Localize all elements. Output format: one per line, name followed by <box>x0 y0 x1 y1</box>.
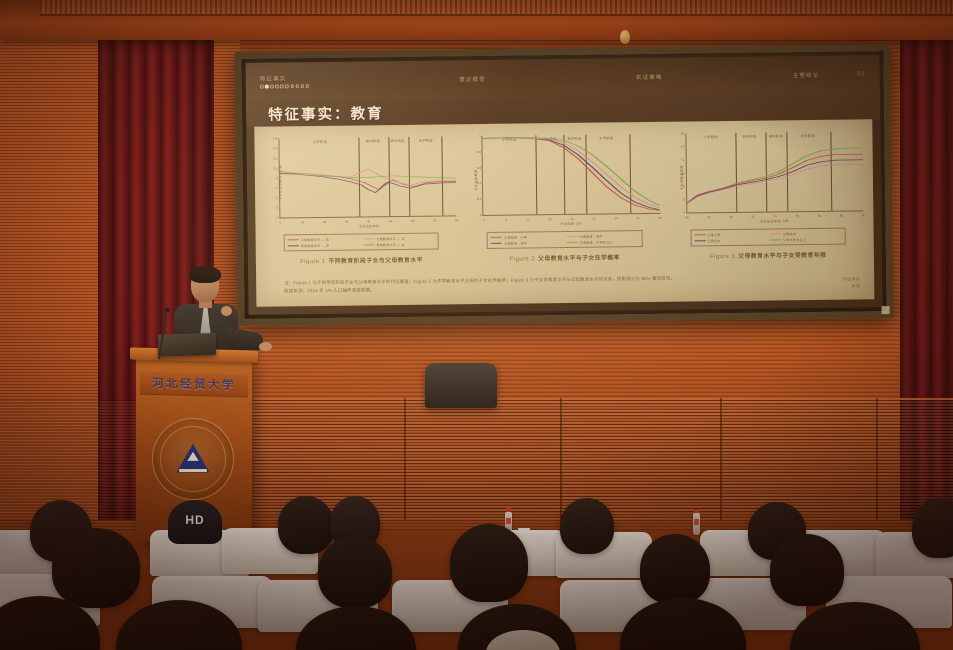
legend-label: 父母教育：大学及以上 <box>580 239 613 244</box>
audience-seating: HD <box>0 488 953 650</box>
y-tick: 6 <box>672 197 685 201</box>
legend-swatch <box>288 245 299 247</box>
audience-cap: HD <box>168 500 222 544</box>
lectern-nameplate: 河北经贸大学 <box>140 371 248 398</box>
y-tick: 0.2 <box>265 156 278 160</box>
lecture-hall-photo: 特征事实 理论模型 <box>0 0 953 650</box>
legend-label: 父母小学 <box>707 232 720 237</box>
progress-dot <box>301 84 305 88</box>
figure-3-plot: 子女受教育年限 16 14 12 10 8 6 4 <box>667 125 868 227</box>
audience-head <box>560 498 614 554</box>
slide-page-number: 02 <box>857 71 866 77</box>
legend-item: 父母小学 <box>694 232 766 238</box>
slide-nav-label: 主要结论 <box>793 71 820 79</box>
legend-swatch <box>770 233 781 235</box>
audience-head <box>450 524 528 602</box>
figure-1-xlabel: 子女出生年份 <box>281 222 456 229</box>
slide-footer-topic: 教育 <box>843 283 860 290</box>
institution-name: 河北经贸大学 <box>152 375 236 393</box>
slide-nav-label: 实证策略 <box>636 73 663 81</box>
y-tick: 12 <box>671 158 684 162</box>
microphone-icon <box>165 307 170 312</box>
screen-corner-marker <box>882 306 890 314</box>
legend-item: 父母高中 <box>770 231 842 237</box>
figure-3-series <box>686 131 863 212</box>
figure-3-axes: 16 14 12 10 8 6 4 <box>685 131 863 213</box>
slide-nav-item-0: 特征事实 <box>260 74 310 88</box>
slide-title: 特征事实：教育 <box>268 102 384 124</box>
lectern-monitor <box>158 333 216 357</box>
audience-head <box>770 534 844 606</box>
progress-dot <box>295 84 299 88</box>
figure-number: Figure 1 <box>300 259 325 265</box>
slide-nav-item-1: 理论模型 <box>459 75 486 83</box>
y-tick: 0.4 <box>264 136 277 140</box>
figure-3-caption: Figure 3父母教育水平与子女受教育年限 <box>710 250 827 260</box>
progress-dot <box>285 85 289 89</box>
y-tick: 4 <box>672 211 685 215</box>
progress-dot <box>290 84 294 88</box>
legend-swatch <box>694 234 705 236</box>
legend-item: 父亲教育水平 — 女 <box>363 236 435 242</box>
y-tick: 0.4 <box>468 181 481 185</box>
y-tick: 1 <box>468 134 481 138</box>
slide-content-area: 子女与父母教育水平差 0.4 0.3 0.2 0.1 0 -.1 -.2 -.3 <box>254 119 874 307</box>
figure-1-plot: 子女与父母教育水平差 0.4 0.3 0.2 0.1 0 -.1 -.2 -.3 <box>260 130 461 232</box>
legend-item: 父母教育：初中 <box>491 240 563 246</box>
figure-1: 子女与父母教育水平差 0.4 0.3 0.2 0.1 0 -.1 -.2 -.3 <box>260 130 461 271</box>
figure-1-series <box>279 136 456 217</box>
figure-1-legend: 父亲教育水平 — 男 父亲教育水平 — 女 母亲教育水平 — 男 <box>284 233 440 252</box>
progress-dot <box>280 85 284 89</box>
legend-label: 父母教育：小学 <box>504 234 527 239</box>
y-tick: -.1 <box>265 186 278 190</box>
figure-3-legend: 父母小学 父母高中 父母初中 <box>690 228 846 247</box>
legend-item: 父亲教育水平 — 男 <box>288 237 360 243</box>
legend-label: 父亲教育水平 — 男 <box>301 237 330 242</box>
legend-label: 母亲教育水平 — 女 <box>376 242 405 247</box>
slide-progress-dots <box>260 84 309 88</box>
legend-label: 父母教育：高中 <box>580 234 603 239</box>
legend-label: 母亲教育水平 — 男 <box>301 243 330 248</box>
legend-item: 父母教育：小学 <box>491 234 563 240</box>
figure-2: 子女在学概率 1 0.8 0.6 0.4 0.2 0 <box>464 128 665 269</box>
y-tick: 0.3 <box>265 146 278 150</box>
legend-item: 父母初中 <box>694 238 766 244</box>
legend-item: 母亲教育水平 — 女 <box>363 242 435 248</box>
ceiling-fixture <box>620 30 630 44</box>
y-tick: 0 <box>265 176 278 180</box>
legend-item: 父母教育：高中 <box>567 233 639 239</box>
presenter-hand <box>259 342 272 351</box>
progress-dot <box>306 84 310 88</box>
legend-swatch <box>491 237 502 239</box>
figure-1-caption: Figure 1不同教育阶段子女与父母教育水平 <box>300 255 423 265</box>
y-tick: 0 <box>469 213 482 217</box>
slide-nav-item-3: 主要结论 <box>793 71 820 79</box>
legend-item: 父母大学及以上 <box>770 237 842 243</box>
legend-item: 母亲教育水平 — 男 <box>288 243 360 249</box>
y-tick: 0.6 <box>468 166 481 170</box>
slide-nav-item-2: 实证策略 <box>636 73 663 81</box>
figure-caption-text: 父母教育水平与子女在学概率 <box>538 255 620 262</box>
stage-chair <box>425 363 497 408</box>
figure-2-plot: 子女在学概率 1 0.8 0.6 0.4 0.2 0 <box>464 128 665 230</box>
legend-label: 父母高中 <box>783 231 796 236</box>
figure-2-series <box>483 134 660 215</box>
figure-2-axes: 1 0.8 0.6 0.4 0.2 0 小学阶段 <box>482 134 660 216</box>
audience-head <box>52 528 140 608</box>
audience-head <box>318 536 392 608</box>
progress-dot <box>275 85 279 89</box>
figure-number: Figure 3 <box>710 254 735 260</box>
presenter-hand <box>221 306 232 316</box>
legend-swatch <box>491 243 502 245</box>
legend-swatch <box>567 236 578 238</box>
legend-swatch <box>770 239 781 241</box>
emblem-shield-icon <box>175 443 211 475</box>
figure-3: 子女受教育年限 16 14 12 10 8 6 4 <box>667 125 868 266</box>
legend-label: 父母教育：初中 <box>504 240 527 245</box>
presentation-slide: 特征事实 理论模型 <box>245 55 882 315</box>
audience-head <box>278 496 334 554</box>
progress-dot <box>270 85 274 89</box>
y-tick: 0.2 <box>468 197 481 201</box>
figure-3-xlabel: 子女出生年份（年） <box>688 217 863 224</box>
legend-swatch <box>363 238 374 240</box>
y-tick: 10 <box>671 171 684 175</box>
legend-swatch <box>567 242 578 244</box>
slide-footer: 特征事实 教育 <box>843 277 860 290</box>
emblem-bar-icon <box>179 469 207 472</box>
slide-nav-label: 特征事实 <box>260 74 310 83</box>
slide-notes: 注：Figure 1 为不同学历阶段子女与父母教育水平的代际差值；Figure … <box>284 274 856 297</box>
figure-2-legend: 父母教育：小学 父母教育：高中 父母教育：初中 <box>487 230 643 249</box>
figure-1-axes: 0.4 0.3 0.2 0.1 0 -.1 -.2 -.3 -.4 <box>278 136 456 218</box>
legend-swatch <box>694 240 705 242</box>
cap-text: HD <box>185 513 204 527</box>
y-tick: 8 <box>672 184 685 188</box>
figure-2-caption: Figure 2父母教育水平与子女在学概率 <box>510 252 620 262</box>
figure-number: Figure 2 <box>510 256 535 262</box>
figure-caption-text: 不同教育阶段子女与父母教育水平 <box>328 258 423 265</box>
y-tick: -.3 <box>265 206 278 210</box>
y-tick: 14 <box>671 145 684 149</box>
audience-head <box>640 534 710 604</box>
y-tick: -.2 <box>265 196 278 200</box>
ceiling-panel <box>40 0 953 16</box>
legend-label: 父母初中 <box>707 238 720 243</box>
slide-footer-section: 特征事实 <box>843 277 860 284</box>
slide-nav-label: 理论模型 <box>459 75 486 83</box>
presenter-hair <box>189 266 221 283</box>
progress-dot <box>260 85 264 89</box>
y-tick: 0.1 <box>265 166 278 170</box>
figures-row: 子女与父母教育水平差 0.4 0.3 0.2 0.1 0 -.1 -.2 -.3 <box>254 119 874 272</box>
emblem-inner-icon <box>187 451 200 462</box>
progress-dot-active <box>265 85 269 89</box>
figure-caption-text: 父母教育水平与子女受教育年限 <box>738 253 826 260</box>
legend-label: 父亲教育水平 — 女 <box>376 236 405 241</box>
figure-2-xlabel: 子女年龄（岁） <box>485 220 660 227</box>
legend-swatch <box>288 239 299 241</box>
legend-swatch <box>363 244 374 246</box>
projection-screen: 特征事实 理论模型 <box>234 44 893 326</box>
y-tick: 0.8 <box>468 150 481 154</box>
legend-label: 父母大学及以上 <box>783 237 806 242</box>
y-tick: -.4 <box>265 215 278 219</box>
legend-item: 父母教育：大学及以上 <box>567 239 639 245</box>
y-tick: 16 <box>671 132 684 136</box>
figure-2-ylabel: 子女在学概率 <box>473 169 478 191</box>
audience-head <box>912 498 953 558</box>
